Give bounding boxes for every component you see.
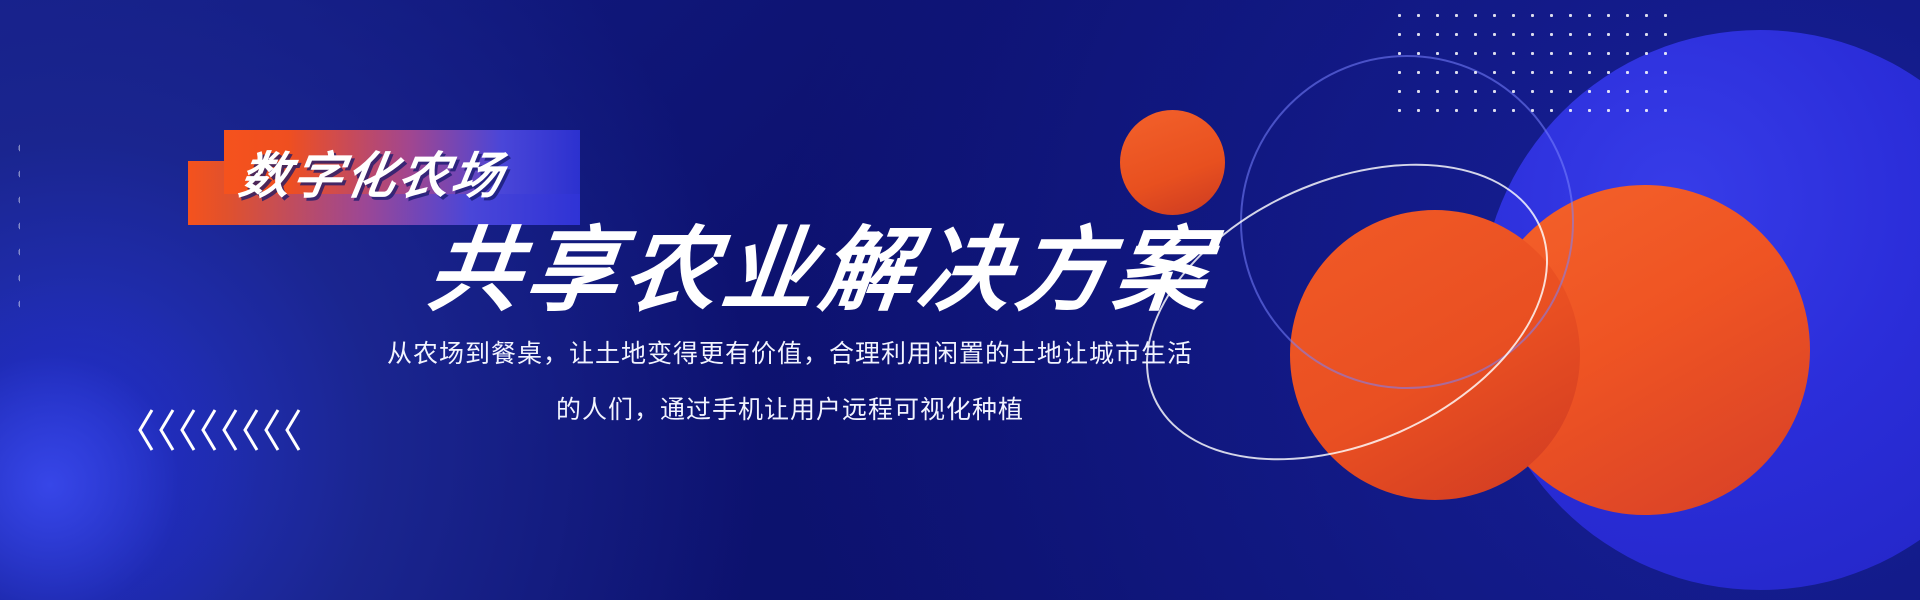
dot-grid-icon: [1390, 6, 1670, 116]
chevron-left-icon: [264, 409, 280, 451]
chevron-left-icon: [222, 409, 238, 451]
orange-circle-medium-decor: [1290, 210, 1580, 500]
subtitle-line-2: 的人们，通过手机让用户远程可视化种植: [300, 382, 1280, 438]
dot-column-icon: [14, 135, 20, 320]
chevron-left-icon: [138, 409, 154, 451]
chevron-left-icon: [201, 409, 217, 451]
subtitle: 从农场到餐桌，让土地变得更有价值，合理利用闲置的土地让城市生活 的人们，通过手机…: [300, 326, 1280, 438]
hero-banner: 数字化农场 共享农业解决方案 从农场到餐桌，让土地变得更有价值，合理利用闲置的土…: [0, 0, 1920, 600]
chevron-left-icon: [159, 409, 175, 451]
page-title: 共享农业解决方案: [422, 196, 1222, 329]
subtitle-line-1: 从农场到餐桌，让土地变得更有价值，合理利用闲置的土地让城市生活: [300, 326, 1280, 382]
chevron-left-icon: [285, 409, 301, 451]
chevron-left-icon: [180, 409, 196, 451]
chevron-left-icon: [243, 409, 259, 451]
chevron-arrows-decor: [138, 409, 301, 451]
